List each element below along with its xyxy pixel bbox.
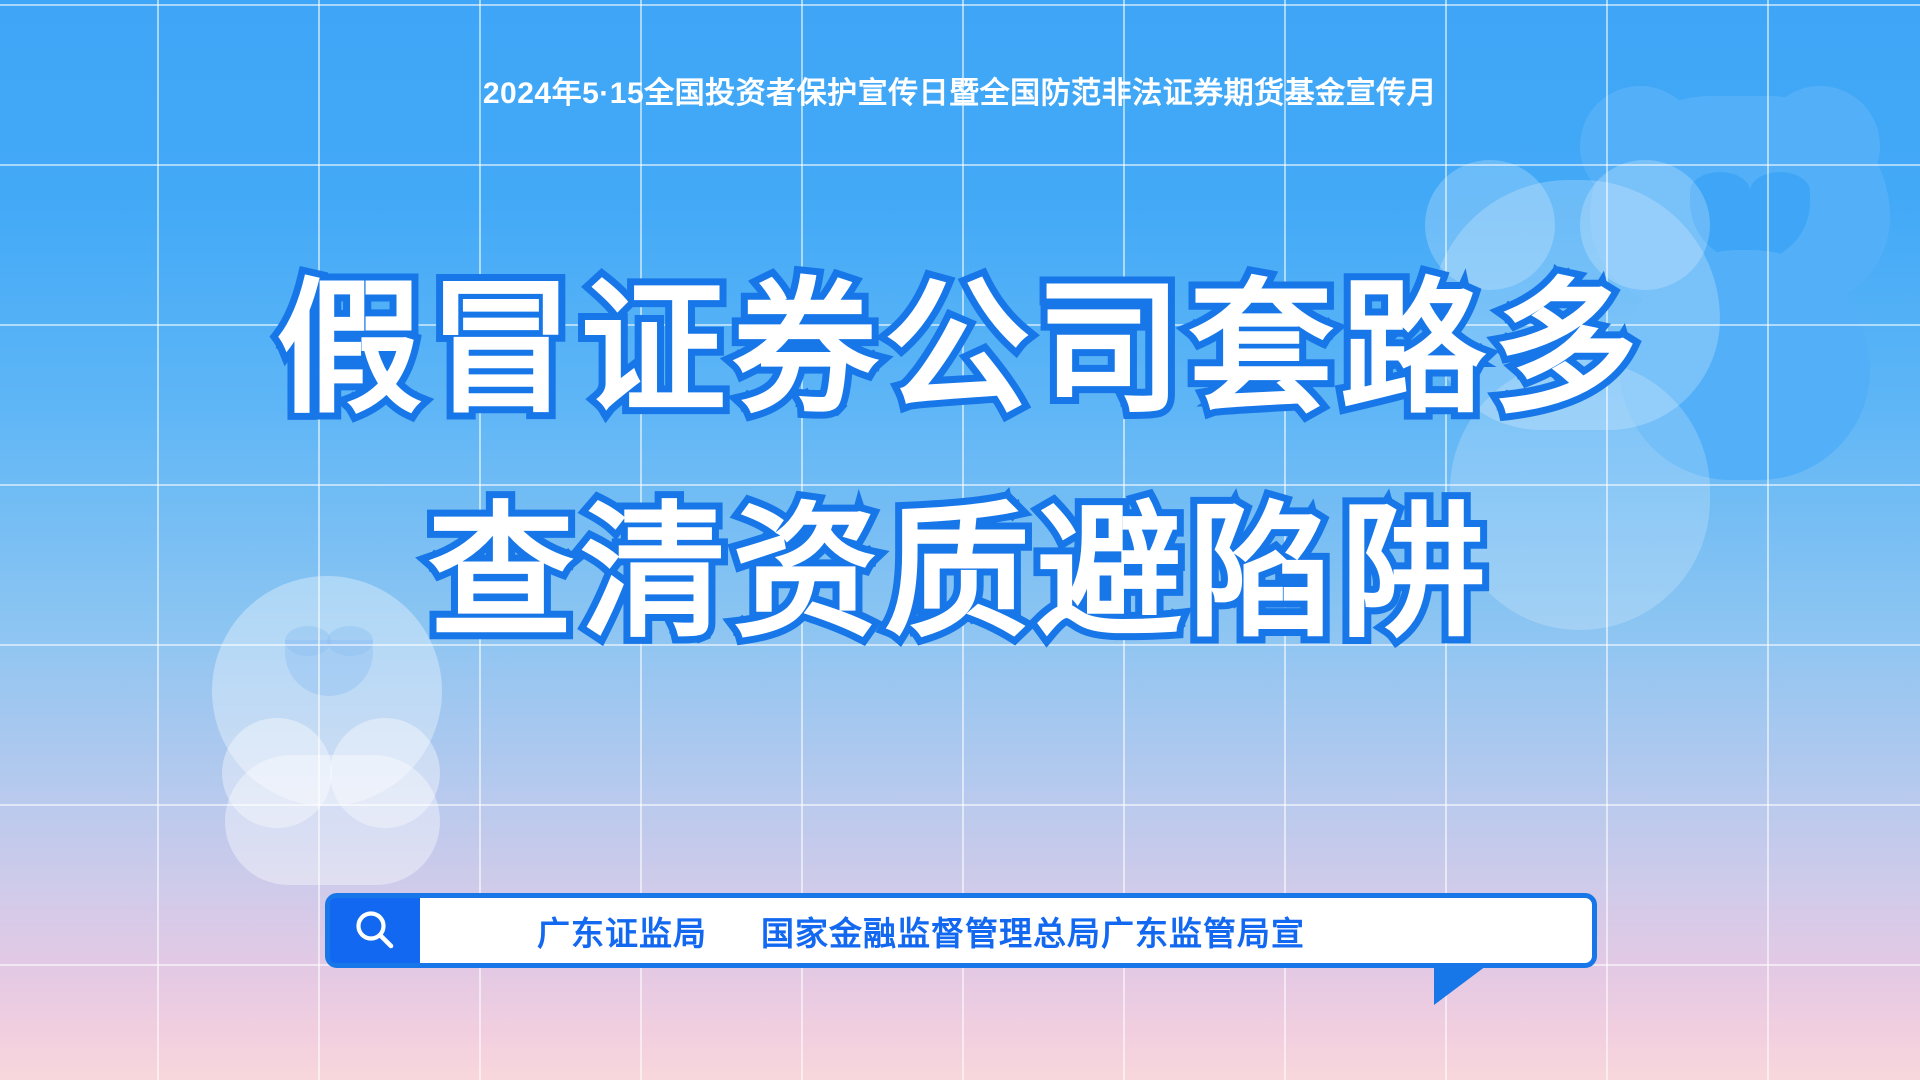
issuer-banner: 广东证监局 国家金融监督管理总局广东监管局宣 [325, 893, 1597, 968]
issuer-secondary: 国家金融监督管理总局广东监管局宣 [761, 907, 1305, 955]
poster-canvas: 2024年5·15全国投资者保护宣传日暨全国防范非法证券期货基金宣传月 假冒证券… [0, 0, 1920, 1080]
mascot-left-foot-right [330, 718, 440, 828]
headline-line-2: 查清资质避陷阱 [0, 500, 1920, 646]
banner-speech-tail [1434, 963, 1490, 1005]
mascot-left-body [225, 755, 440, 885]
mascot-left-mouth [285, 640, 373, 696]
mascot-top-right-mouth [1690, 190, 1810, 262]
mascot-left-foot-left [222, 718, 332, 828]
issuer-primary: 广东证监局 [537, 907, 707, 955]
campaign-header-text: 2024年5·15全国投资者保护宣传日暨全国防范非法证券期货基金宣传月 [0, 68, 1920, 112]
headline-line-1: 假冒证券公司套路多 [0, 276, 1920, 422]
issuer-names: 广东证监局 国家金融监督管理总局广东监管局宣 [420, 898, 1592, 963]
search-icon [330, 898, 420, 963]
